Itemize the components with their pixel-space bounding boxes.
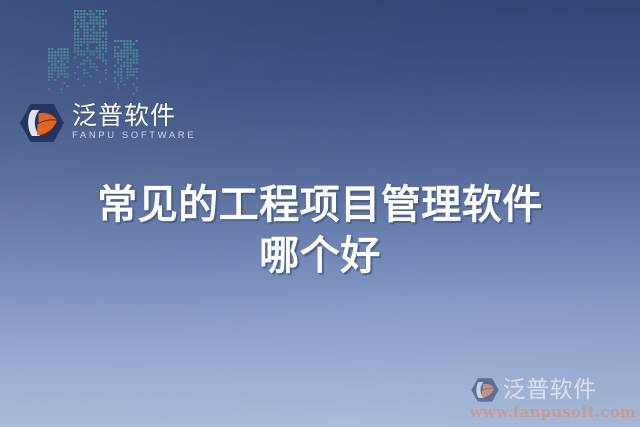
watermark-url: www.fanpusoft.com bbox=[470, 403, 636, 421]
page-title-line-1: 常见的工程项目管理软件 bbox=[0, 180, 640, 231]
banner-canvas: 泛普软件 FANPU SOFTWARE 常见的工程项目管理软件 哪个好 泛普软件… bbox=[0, 0, 640, 427]
pixel-skyline-decoration bbox=[38, 6, 148, 102]
brand-name-cn: 泛普软件 bbox=[72, 103, 196, 129]
brand-logo-wordmark: 泛普软件 FANPU SOFTWARE bbox=[72, 102, 196, 142]
fanpu-hexagon-logo-icon bbox=[18, 102, 66, 144]
brand-logo: 泛普软件 FANPU SOFTWARE bbox=[18, 102, 196, 144]
page-title-line-2: 哪个好 bbox=[0, 231, 640, 282]
watermark: 泛普软件 www.fanpusoft.com bbox=[470, 377, 636, 421]
brand-name-en: FANPU SOFTWARE bbox=[72, 130, 196, 142]
watermark-brand-name: 泛普软件 bbox=[503, 377, 597, 403]
page-title: 常见的工程项目管理软件 哪个好 bbox=[0, 180, 640, 282]
fanpu-hexagon-logo-icon-small bbox=[470, 377, 500, 403]
watermark-logo-row: 泛普软件 bbox=[470, 377, 636, 403]
